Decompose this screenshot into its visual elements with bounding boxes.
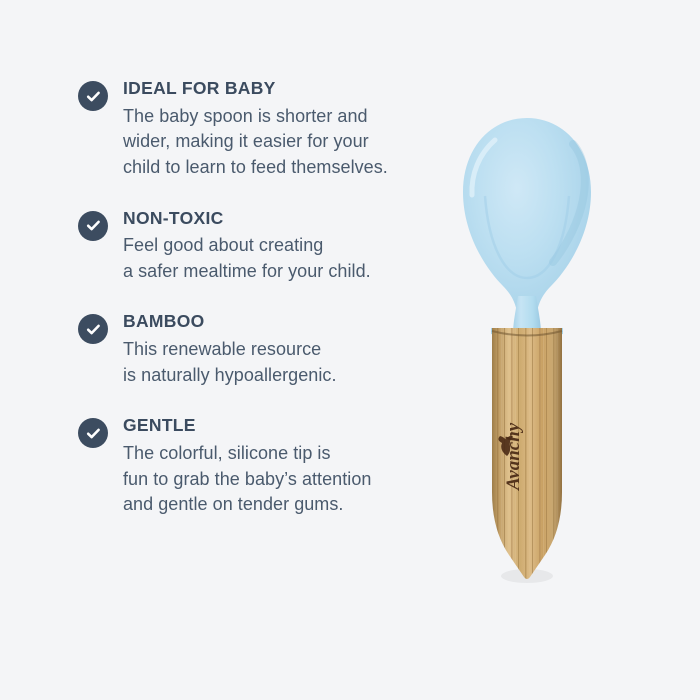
feature-item-bamboo: BAMBOO This renewable resource is natura… bbox=[78, 311, 448, 388]
feature-body-line: fun to grab the baby’s attention bbox=[123, 467, 448, 493]
feature-item-non-toxic: NON-TOXIC Feel good about creating a saf… bbox=[78, 208, 448, 285]
feature-item-gentle: GENTLE The colorful, silicone tip is fun… bbox=[78, 415, 448, 518]
feature-body: The colorful, silicone tip is fun to gra… bbox=[123, 441, 448, 518]
feature-title: IDEAL FOR BABY bbox=[123, 78, 448, 100]
feature-body-line: The baby spoon is shorter and bbox=[123, 104, 448, 130]
feature-body-line: This renewable resource bbox=[123, 337, 448, 363]
feature-body-line: a safer mealtime for your child. bbox=[123, 259, 448, 285]
svg-text:Avanchy: Avanchy bbox=[503, 422, 524, 491]
feature-body: Feel good about creating a safer mealtim… bbox=[123, 233, 448, 284]
feature-title: BAMBOO bbox=[123, 311, 448, 333]
check-circle-icon bbox=[78, 211, 108, 241]
feature-body-line: and gentle on tender gums. bbox=[123, 492, 448, 518]
spoon-handle-bamboo: Avanchy bbox=[492, 328, 562, 588]
feature-body-line: child to learn to feed themselves. bbox=[123, 155, 448, 181]
feature-list: IDEAL FOR BABY The baby spoon is shorter… bbox=[78, 78, 448, 518]
feature-title: GENTLE bbox=[123, 415, 448, 437]
feature-body-line: The colorful, silicone tip is bbox=[123, 441, 448, 467]
product-feature-graphic: IDEAL FOR BABY The baby spoon is shorter… bbox=[0, 0, 700, 700]
product-image-baby-spoon: Avanchy bbox=[455, 100, 655, 600]
check-circle-icon bbox=[78, 418, 108, 448]
feature-body-line: is naturally hypoallergenic. bbox=[123, 363, 448, 389]
feature-body: This renewable resource is naturally hyp… bbox=[123, 337, 448, 388]
brand-logo-avanchy: Avanchy bbox=[498, 422, 524, 491]
feature-body: The baby spoon is shorter and wider, mak… bbox=[123, 104, 448, 181]
feature-body-line: Feel good about creating bbox=[123, 233, 448, 259]
feature-item-ideal-for-baby: IDEAL FOR BABY The baby spoon is shorter… bbox=[78, 78, 448, 181]
feature-body-line: wider, making it easier for your bbox=[123, 129, 448, 155]
feature-title: NON-TOXIC bbox=[123, 208, 448, 230]
check-circle-icon bbox=[78, 81, 108, 111]
check-circle-icon bbox=[78, 314, 108, 344]
